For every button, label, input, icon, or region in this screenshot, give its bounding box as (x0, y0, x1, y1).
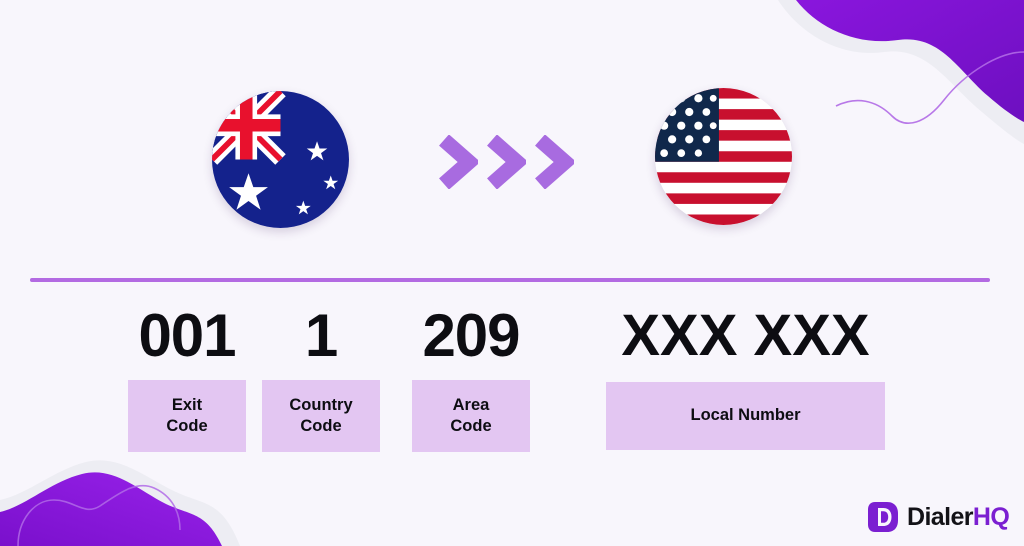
segment-local-number: XXX XXX Local Number (606, 305, 885, 450)
exit-code-value: 001 (138, 305, 235, 367)
local-number-label: Local Number (606, 382, 885, 450)
chevron-right-icon-1 (436, 135, 478, 189)
logo-word-dialer: Dialer (907, 505, 973, 530)
chevron-right-icon-3 (532, 135, 574, 189)
segment-exit-code: 001 Exit Code (128, 305, 246, 452)
blob-bottom-left (0, 472, 222, 546)
blob-top-right (796, 0, 1024, 122)
exit-code-label: Exit Code (128, 380, 246, 452)
dialerhq-logo-mark-icon (866, 500, 900, 534)
blob-halo-top-right (778, 0, 1024, 144)
section-divider (30, 278, 990, 282)
segment-area-code: 209 Area Code (412, 305, 530, 452)
infographic-canvas: 001 Exit Code 1 Country Code 209 Area Co… (0, 0, 1024, 546)
accent-line-top-right (836, 52, 1024, 123)
chevron-right-triple-icon (436, 133, 576, 191)
area-code-value: 209 (422, 305, 519, 367)
country-code-label: Country Code (262, 380, 380, 452)
country-code-value: 1 (305, 305, 337, 367)
dialing-format-row: 001 Exit Code 1 Country Code 209 Area Co… (0, 305, 1024, 455)
australia-flag-icon (212, 91, 349, 228)
logo-word-hq: HQ (973, 505, 1009, 530)
accent-line-bottom-left (18, 486, 180, 546)
decorative-blobs (0, 0, 1024, 546)
dialerhq-logo: Dialer HQ (866, 500, 1009, 534)
segment-country-code: 1 Country Code (262, 305, 380, 452)
blob-halo-bottom-left (0, 460, 240, 546)
local-number-value: XXX XXX (621, 305, 869, 367)
united-states-flag-icon (655, 88, 792, 225)
chevron-right-icon-2 (484, 135, 526, 189)
area-code-label: Area Code (412, 380, 530, 452)
